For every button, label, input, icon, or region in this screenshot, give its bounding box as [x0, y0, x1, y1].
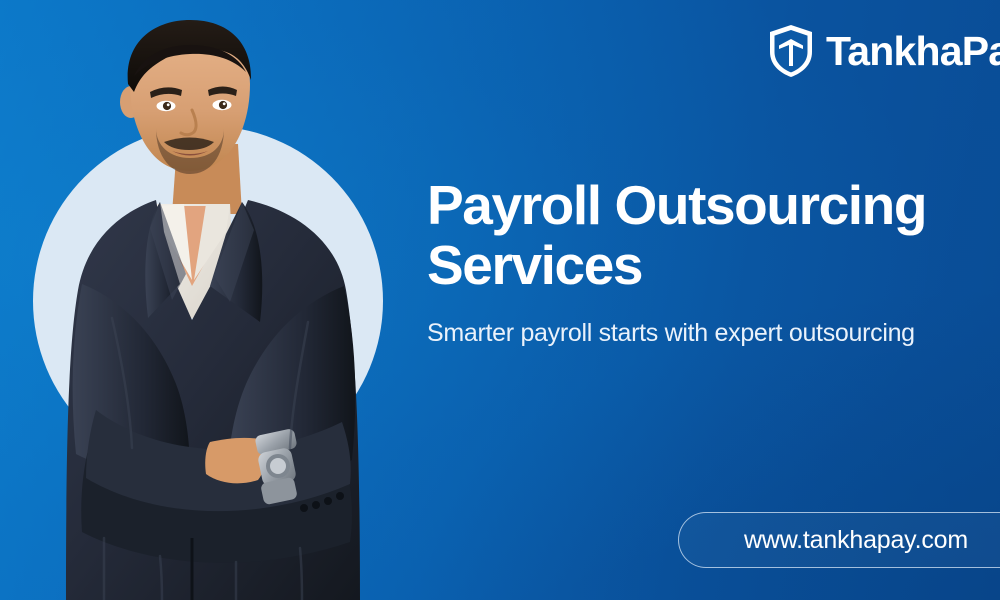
- website-url-label: www.tankhapay.com: [744, 528, 968, 553]
- businessman-photo: [60, 18, 400, 600]
- brand-wordmark: TankhaPay: [826, 31, 1000, 72]
- headline-line-2: Services: [427, 234, 642, 296]
- brand-logo[interactable]: TankhaPay: [768, 24, 1000, 78]
- page-subtitle: Smarter payroll starts with expert outso…: [427, 318, 1000, 349]
- hero-text-block: Payroll Outsourcing Services Smarter pay…: [427, 176, 1000, 349]
- website-url-pill[interactable]: www.tankhapay.com: [678, 512, 1000, 568]
- page-title: Payroll Outsourcing Services: [427, 176, 1000, 296]
- promo-banner: TankhaPay Payroll Outsourcing Services S…: [0, 0, 1000, 600]
- headline-line-1: Payroll Outsourcing: [427, 174, 926, 236]
- shield-t-icon: [768, 24, 814, 78]
